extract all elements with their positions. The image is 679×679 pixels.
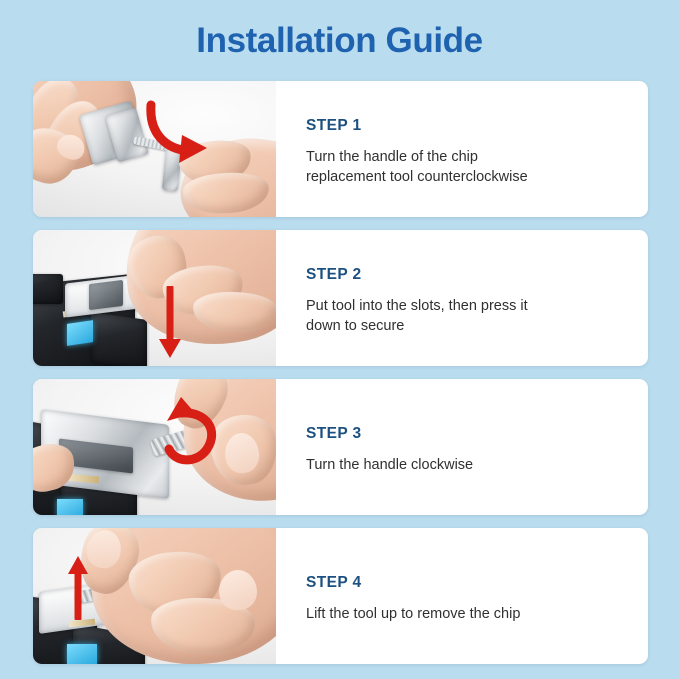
step-4-description: Lift the tool up to remove the chip [306,605,561,624]
arrow-down [159,286,181,358]
step-card-2: STEP 2 Put tool into the slots, then pre… [33,230,648,366]
step-card-1: STEP 1 Turn the handle of the chip repla… [33,81,648,217]
step-3-description: Turn the handle clockwise [306,456,561,475]
chip-tool-head [89,280,123,310]
step-card-4: STEP 4 Lift the tool up to remove the ch… [33,528,648,664]
arrow-circular-clockwise [159,397,225,469]
step-4-photo [33,528,276,664]
step-4-text: STEP 4 Lift the tool up to remove the ch… [276,528,648,664]
arrow-curved-counterclockwise [145,99,217,163]
cartridge-chip [67,320,93,346]
step-3-photo [33,379,276,515]
arrow-shaft [167,286,174,340]
page-title: Installation Guide [0,0,679,61]
arrow-head [159,339,181,358]
step-3-text: STEP 3 Turn the handle clockwise [276,379,648,515]
steps-list: STEP 1 Turn the handle of the chip repla… [33,81,648,664]
step-card-3: STEP 3 Turn the handle clockwise [33,379,648,515]
arrow-head [68,556,88,574]
step-2-description: Put tool into the slots, then press it d… [306,297,561,335]
step-2-text: STEP 2 Put tool into the slots, then pre… [276,230,648,366]
step-1-text: STEP 1 Turn the handle of the chip repla… [276,81,648,217]
step-4-label: STEP 4 [306,574,618,592]
step-1-label: STEP 1 [306,117,618,135]
step-2-photo [33,230,276,366]
step-2-label: STEP 2 [306,266,618,284]
cartridge-chip [67,644,97,664]
arrow-up [67,556,89,620]
step-3-label: STEP 3 [306,425,618,443]
step-1-photo [33,81,276,217]
arrow-svg [159,397,225,469]
arrow-svg [145,99,217,163]
cartridge-chip [57,499,83,515]
cartridge-front [91,312,147,366]
step-1-description: Turn the handle of the chip replacement … [306,148,561,186]
arrow-shaft [75,573,82,620]
cartridge-rail [33,274,63,304]
